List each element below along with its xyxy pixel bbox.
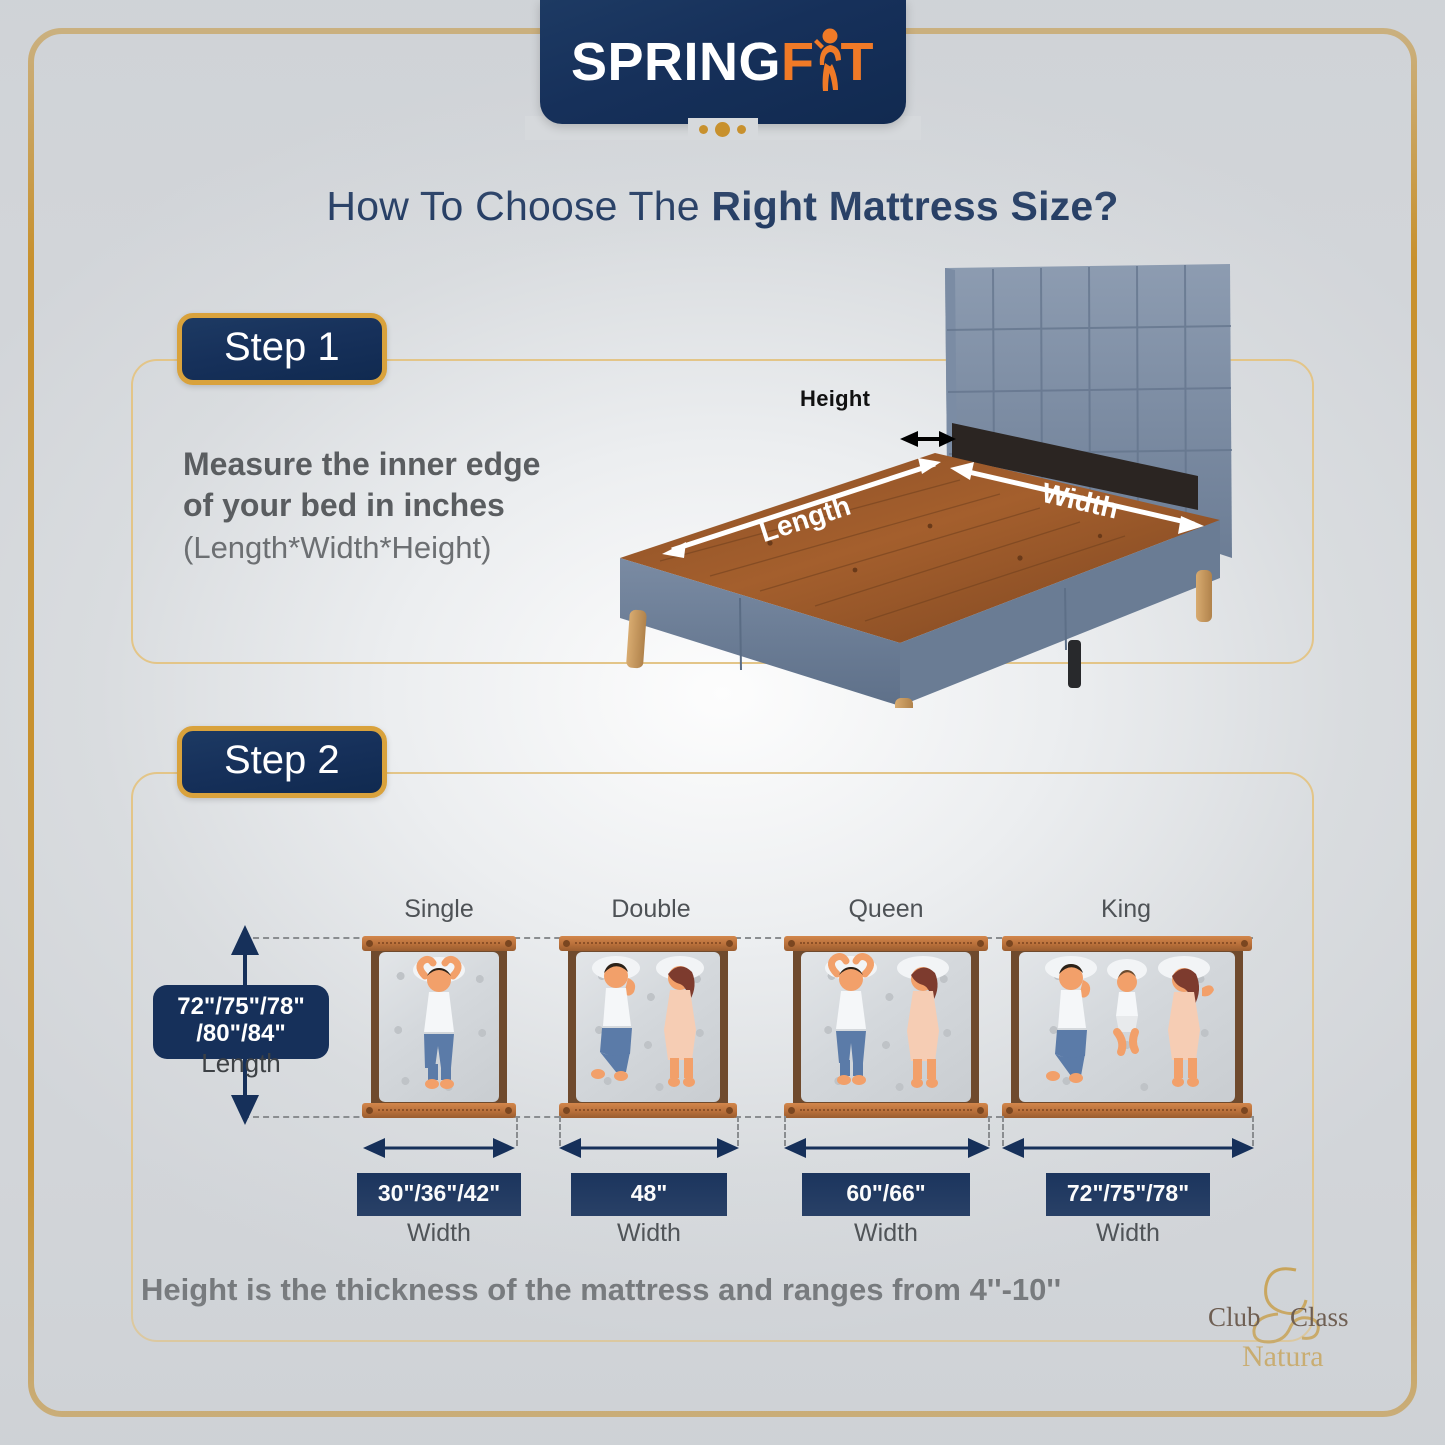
width-arrow-king	[1002, 1135, 1254, 1161]
club-class-text-natura: Natura	[1242, 1340, 1324, 1373]
width-arrow-single	[363, 1135, 515, 1161]
sleeper-figures-double	[576, 952, 720, 1102]
sleeper-figures-king	[1019, 952, 1235, 1102]
sleeper-figures-single	[379, 952, 499, 1102]
runner-figure-icon	[813, 33, 843, 91]
mattress-rail-bottom-queen	[784, 1103, 988, 1118]
mattress-single	[371, 945, 507, 1109]
step-1-line-1: Measure the inner edge	[183, 444, 613, 485]
mattress-name-queen: Queen	[791, 895, 981, 924]
step-1-instruction: Measure the inner edge of your bed in in…	[183, 444, 613, 568]
width-word-king: Width	[1046, 1219, 1210, 1248]
ornament-dot-small-right	[737, 125, 746, 134]
step-1-line-3: (Length*Width*Height)	[183, 528, 613, 568]
logo-fit-group: FT	[781, 33, 874, 91]
club-class-natura-logo: Club Class Natura	[1200, 1258, 1390, 1388]
logo-dot-ornament	[688, 118, 758, 140]
mattress-name-single: Single	[349, 895, 529, 924]
width-value-badge-single: 30"/36"/42"	[357, 1173, 521, 1216]
mattress-size-comparison: 72"/75"/78" /80"/84" Length Single	[131, 885, 1314, 1265]
mattress-rail-top-double	[559, 936, 737, 951]
step-1-line-2: of your bed in inches	[183, 485, 613, 526]
mattress-name-double: Double	[561, 895, 741, 924]
mattress-double	[568, 945, 728, 1109]
mattress-rail-top-queen	[784, 936, 988, 951]
step-1-badge: Step 1	[177, 313, 387, 385]
mattress-surface-double	[576, 952, 720, 1102]
mattress-rail-top-king	[1002, 936, 1252, 951]
mattress-surface-queen	[801, 952, 971, 1102]
bed-illustration: Length Width Height	[600, 258, 1260, 708]
mattress-name-king: King	[1026, 895, 1226, 924]
footer-note: Height is the thickness of the mattress …	[141, 1272, 1061, 1308]
width-word-double: Width	[571, 1219, 727, 1248]
ornament-dot-large	[715, 122, 730, 137]
logo-spring-text: SPRING	[571, 35, 781, 89]
club-class-text-class: Class	[1290, 1302, 1349, 1332]
mattress-queen	[793, 945, 979, 1109]
width-word-single: Width	[357, 1219, 521, 1248]
width-value-badge-queen: 60"/66"	[802, 1173, 970, 1216]
mattress-rail-bottom-single	[362, 1103, 516, 1118]
infographic-page: SPRINGFT How To Choose The Right Mattres…	[0, 0, 1445, 1445]
mattress-surface-king	[1019, 952, 1235, 1102]
sleeper-figures-queen	[801, 952, 971, 1102]
logo-text: SPRINGFT	[571, 33, 874, 91]
springfit-logo: SPRINGFT	[540, 0, 906, 124]
club-class-text-club: Club	[1208, 1302, 1261, 1332]
mattress-rail-top-single	[362, 936, 516, 951]
mattress-king	[1011, 945, 1243, 1109]
mattress-rail-bottom-king	[1002, 1103, 1252, 1118]
width-word-queen: Width	[802, 1219, 970, 1248]
width-tick-single-right	[516, 1116, 518, 1146]
width-arrow-double	[559, 1135, 739, 1161]
page-title: How To Choose The Right Mattress Size?	[0, 183, 1445, 230]
page-title-light: How To Choose The	[326, 183, 711, 229]
bed-svg: Length Width	[600, 258, 1260, 708]
bed-height-label: Height	[800, 386, 870, 412]
page-title-bold: Right Mattress Size?	[711, 183, 1118, 229]
step-2-badge: Step 2	[177, 726, 387, 798]
mattress-rail-bottom-double	[559, 1103, 737, 1118]
width-value-badge-king: 72"/75"/78"	[1046, 1173, 1210, 1216]
length-word-label: Length	[153, 1048, 329, 1079]
mattress-surface-single	[379, 952, 499, 1102]
width-value-badge-double: 48"	[571, 1173, 727, 1216]
club-class-logo-svg: Club Class Natura	[1200, 1258, 1390, 1388]
width-arrow-queen	[784, 1135, 990, 1161]
ornament-dot-small-left	[699, 125, 708, 134]
